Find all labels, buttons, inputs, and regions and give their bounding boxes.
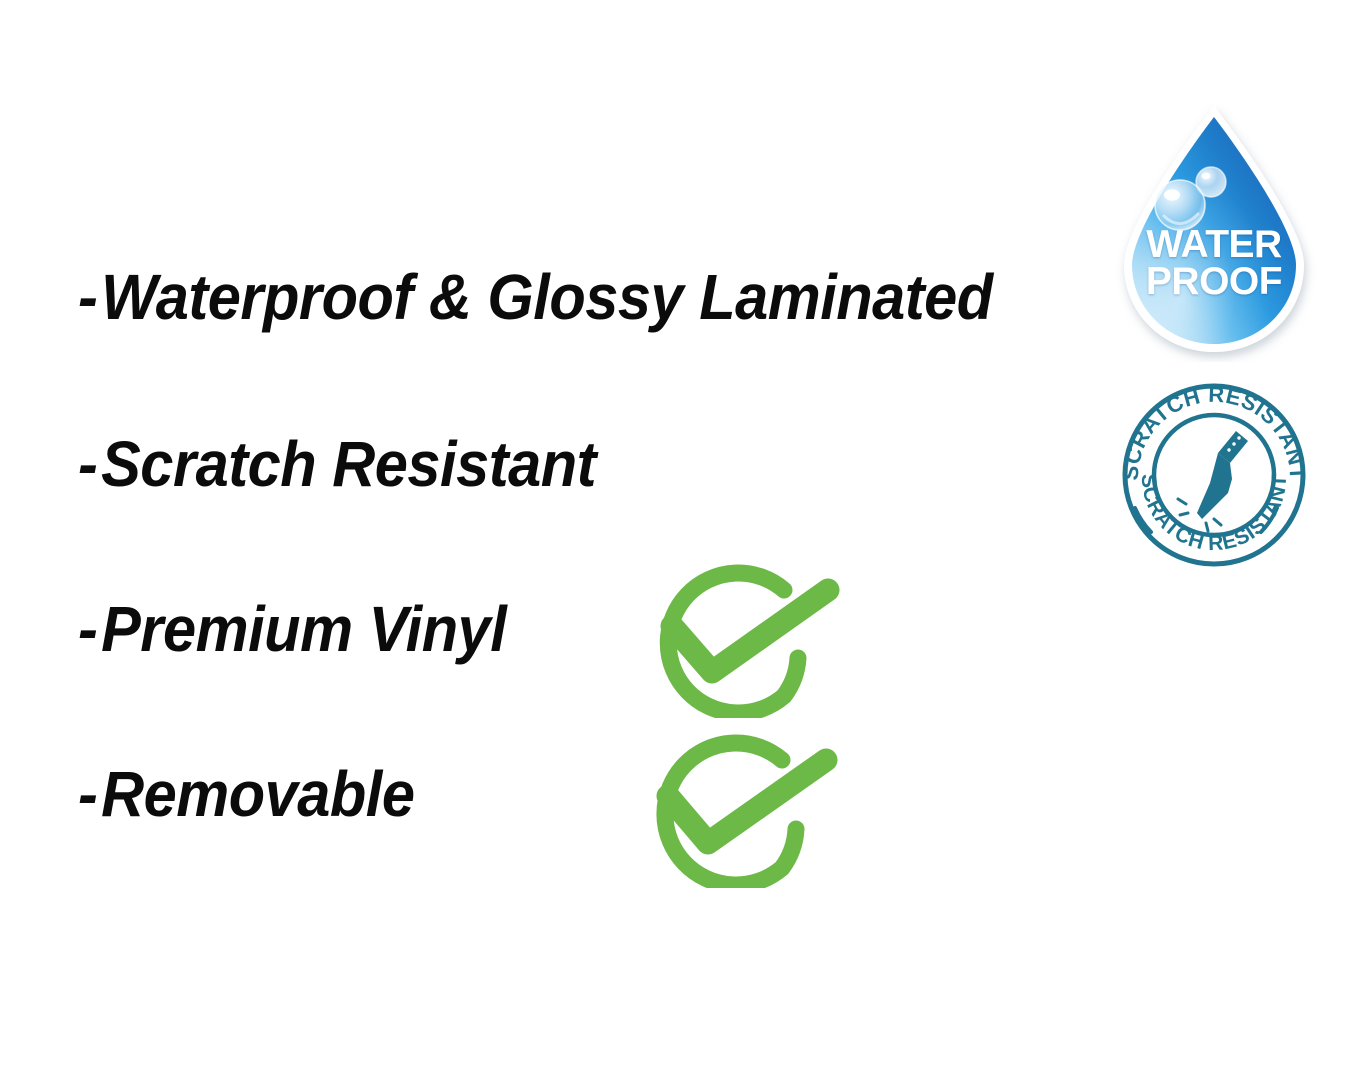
knife-spark-3 bbox=[1206, 523, 1208, 531]
knife-spark-4 bbox=[1214, 519, 1221, 525]
check-mark-removable bbox=[626, 716, 841, 888]
feature-dash: - bbox=[78, 762, 97, 826]
feature-dash: - bbox=[78, 432, 97, 496]
seal-text-top: SCRATCH RESISTANT bbox=[1118, 382, 1310, 481]
feature-item-premium-vinyl: -Premium Vinyl bbox=[78, 597, 506, 661]
feature-list: -Waterproof & Glossy Laminated -Scratch … bbox=[0, 0, 1100, 1080]
knife-icon bbox=[1178, 431, 1248, 531]
knife-rivet-1 bbox=[1237, 436, 1240, 439]
knife-blade bbox=[1197, 453, 1232, 519]
check-circle-icon bbox=[626, 716, 841, 888]
feature-item-waterproof-glossy-laminated: -Waterproof & Glossy Laminated bbox=[78, 265, 993, 329]
knife-spark-2 bbox=[1180, 513, 1188, 515]
feature-item-removable: -Removable bbox=[78, 762, 414, 826]
scratch-resistant-badge: SCRATCH RESISTANT SCRATCH RESISTANT bbox=[1118, 382, 1310, 568]
droplet-sheen bbox=[1132, 117, 1296, 344]
feature-item-scratch-resistant: -Scratch Resistant bbox=[78, 432, 596, 496]
knife-spark-1 bbox=[1178, 499, 1186, 504]
knife-rivet-3 bbox=[1227, 448, 1230, 451]
feature-label: Removable bbox=[101, 758, 414, 830]
droplet-bubble-large-glint bbox=[1164, 189, 1180, 200]
feature-dash: - bbox=[78, 265, 97, 329]
scratch-resistant-seal-icon: SCRATCH RESISTANT SCRATCH RESISTANT bbox=[1118, 382, 1310, 568]
feature-dash: - bbox=[78, 597, 97, 661]
water-droplet-icon bbox=[1108, 100, 1320, 362]
knife-rivet-2 bbox=[1232, 442, 1235, 445]
check-mark-premium-vinyl bbox=[632, 548, 842, 718]
check-circle-icon bbox=[632, 548, 842, 718]
feature-label: Waterproof & Glossy Laminated bbox=[101, 261, 993, 333]
feature-highlight-graphic: -Waterproof & Glossy Laminated -Scratch … bbox=[0, 0, 1359, 1080]
waterproof-badge: WATER PROOF bbox=[1108, 100, 1320, 362]
feature-label: Scratch Resistant bbox=[101, 428, 596, 500]
feature-label: Premium Vinyl bbox=[101, 593, 506, 665]
droplet-bubble-small-glint bbox=[1202, 173, 1211, 180]
